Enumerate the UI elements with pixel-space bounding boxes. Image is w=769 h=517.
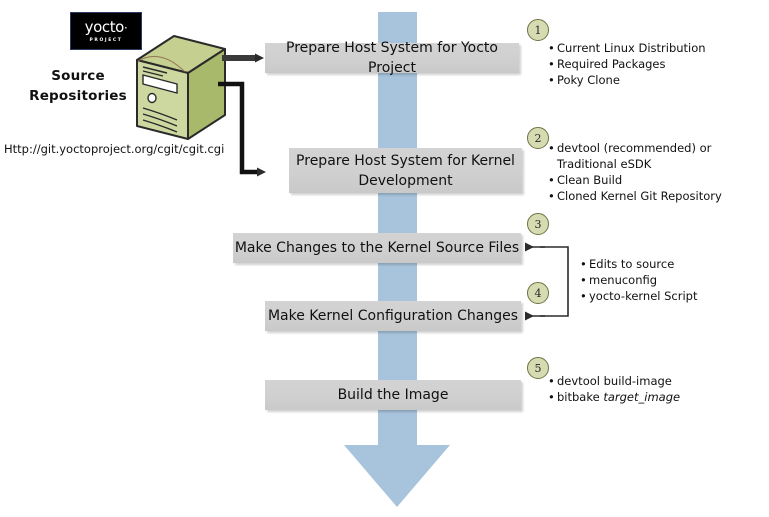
bullet-glyph: • — [580, 256, 589, 272]
bullet-glyph: • — [548, 140, 557, 156]
bullet-glyph: • — [548, 373, 557, 389]
bullet-list-step-2: •devtool (recommended) or Traditional eS… — [548, 140, 763, 204]
logo-subtext: PROJECT — [90, 38, 123, 43]
list-item-text: Poky Clone — [557, 72, 758, 88]
list-item: •devtool (recommended) or Traditional eS… — [548, 140, 763, 172]
list-item: •Required Packages — [548, 56, 758, 72]
list-item: •bitbake target_image — [548, 389, 748, 405]
bullet-glyph: • — [548, 56, 557, 72]
command-name: bitbake — [557, 390, 603, 404]
flow-arrow-head — [344, 445, 450, 507]
bullet-glyph: • — [548, 188, 557, 204]
process-box-make-changes-kernel-source[interactable]: Make Changes to the Kernel Source Files — [233, 233, 521, 263]
process-box-prepare-host-kernel[interactable]: Prepare Host System for Kernel Developme… — [289, 148, 522, 193]
box-1-label: Prepare Host System for Yocto Project — [265, 38, 519, 78]
box-3-label: Make Changes to the Kernel Source Files — [235, 238, 519, 258]
list-item: •Poky Clone — [548, 72, 758, 88]
list-item-text: Cloned Kernel Git Repository — [557, 188, 763, 204]
list-item: •Clean Build — [548, 172, 763, 188]
bullet-glyph: • — [548, 40, 557, 56]
box-2-label-line-2: Development — [358, 173, 452, 189]
source-repositories-label: Source Repositories — [18, 66, 138, 106]
step-badge-5: 5 — [527, 357, 549, 379]
process-box-make-kernel-config-changes[interactable]: Make Kernel Configuration Changes — [265, 301, 521, 331]
list-item: •menuconfig — [580, 272, 760, 288]
step-badge-2: 2 — [527, 127, 549, 149]
source-repository-url: Http://git.yoctoproject.org/cgit/cgit.cg… — [4, 142, 224, 156]
bullet-glyph: • — [580, 288, 589, 304]
list-item: •Cloned Kernel Git Repository — [548, 188, 763, 204]
list-item: •Current Linux Distribution — [548, 40, 758, 56]
badge-3-number: 3 — [535, 218, 542, 231]
list-item: •devtool build-image — [548, 373, 748, 389]
list-item-text: Current Linux Distribution — [557, 40, 758, 56]
list-item-text: devtool build-image — [557, 373, 748, 389]
bullet-list-step-1: •Current Linux Distribution •Required Pa… — [548, 40, 758, 88]
source-label-line-1: Source — [18, 66, 138, 86]
logo-dot: · — [124, 21, 127, 35]
list-item-text: bitbake target_image — [557, 389, 748, 405]
list-item-text: devtool (recommended) or Traditional eSD… — [557, 140, 763, 172]
step-badge-3: 3 — [527, 213, 549, 235]
bullet-list-step-5: •devtool build-image •bitbake target_ima… — [548, 373, 748, 405]
box-4-label: Make Kernel Configuration Changes — [268, 306, 518, 326]
bullet-glyph: • — [580, 272, 589, 288]
bullet-glyph: • — [548, 72, 557, 88]
source-label-line-2: Repositories — [18, 86, 138, 106]
list-item: •yocto-kernel Script — [580, 288, 760, 304]
bullet-glyph: • — [548, 389, 557, 405]
list-item-text: Clean Build — [557, 172, 763, 188]
process-box-prepare-host-yocto[interactable]: Prepare Host System for Yocto Project — [265, 43, 519, 73]
box-2-label-line-1: Prepare Host System for Kernel — [296, 153, 515, 169]
yocto-project-logo: yocto· PROJECT — [70, 12, 142, 50]
diagram-canvas: yocto· PROJECT Source Repositories Http:… — [0, 0, 769, 517]
server-icon — [133, 34, 229, 142]
badge-1-number: 1 — [535, 24, 542, 37]
list-item-text: menuconfig — [589, 272, 760, 288]
list-item-text: Required Packages — [557, 56, 758, 72]
process-box-build-the-image[interactable]: Build the Image — [265, 380, 521, 410]
bullet-list-steps-3-and-4: •Edits to source •menuconfig •yocto-kern… — [580, 256, 760, 304]
box-5-label: Build the Image — [338, 385, 449, 405]
box-2-label: Prepare Host System for Kernel Developme… — [296, 151, 515, 191]
step-badge-4: 4 — [527, 282, 549, 304]
bullet-glyph: • — [548, 172, 557, 188]
badge-5-number: 5 — [535, 362, 542, 375]
list-item: •Edits to source — [580, 256, 760, 272]
badge-4-number: 4 — [535, 287, 542, 300]
list-item-text: Edits to source — [589, 256, 760, 272]
badge-2-number: 2 — [535, 132, 542, 145]
logo-wordmark: yocto· — [85, 20, 128, 36]
list-item-text: yocto-kernel Script — [589, 288, 760, 304]
command-argument: target_image — [603, 390, 680, 404]
step-badge-1: 1 — [527, 19, 549, 41]
